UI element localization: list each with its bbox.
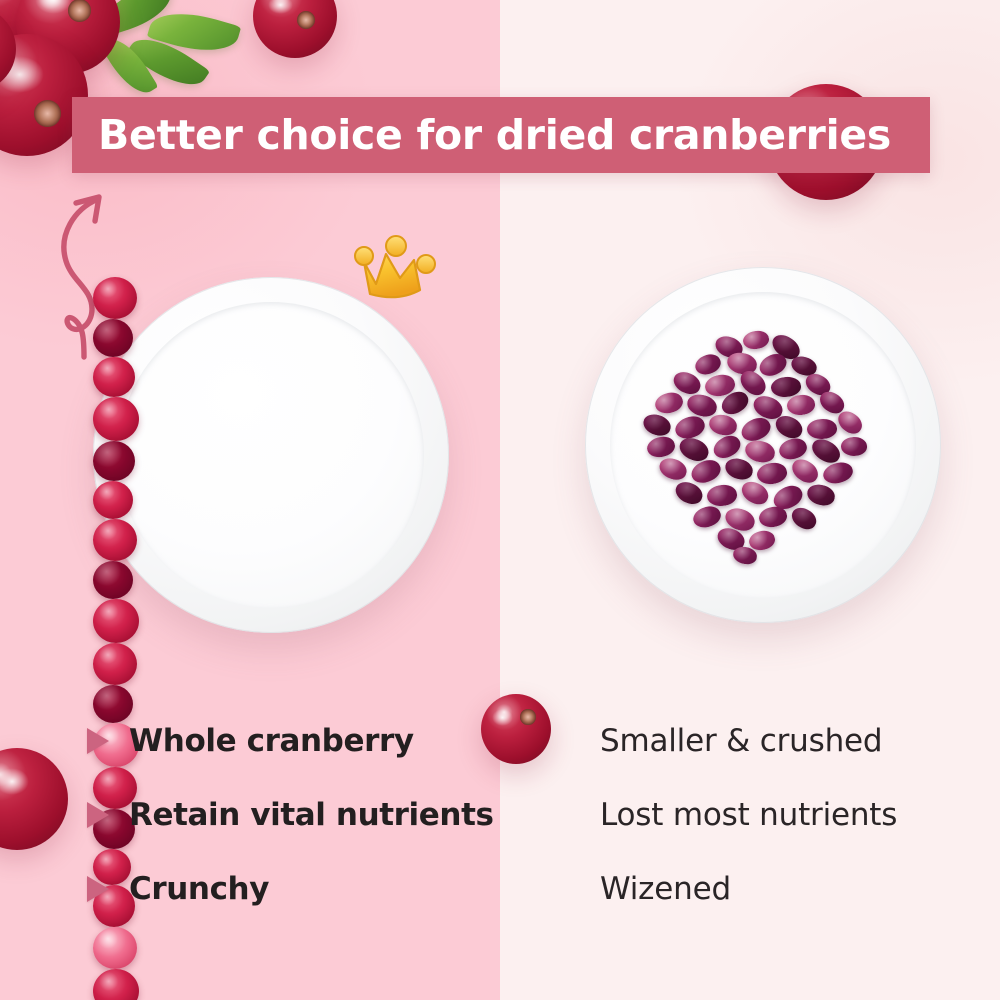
pro-feature-2: Retain vital nutrients bbox=[0, 780, 500, 850]
crown-icon bbox=[346, 228, 450, 312]
con-feature-label: Lost most nutrients bbox=[600, 797, 897, 833]
con-feature-label: Wizened bbox=[600, 871, 731, 907]
triangle-bullet-icon bbox=[87, 876, 109, 902]
headline-banner: Better choice for dried cranberries bbox=[72, 97, 930, 173]
triangle-bullet-icon bbox=[87, 802, 109, 828]
pro-feature-label: Crunchy bbox=[129, 871, 269, 907]
feature-comparison-list: Whole cranberry Smaller & crushed Retain… bbox=[0, 706, 1000, 916]
con-feature-1: Smaller & crushed bbox=[500, 706, 1000, 776]
con-feature-2: Lost most nutrients bbox=[500, 780, 1000, 850]
pro-feature-3: Crunchy bbox=[0, 854, 500, 924]
comparison-row: Whole cranberry Smaller & crushed bbox=[0, 706, 1000, 776]
comparison-row: Retain vital nutrients Lost most nutrien… bbox=[0, 780, 1000, 850]
right-product-plate bbox=[585, 267, 941, 623]
pro-feature-label: Whole cranberry bbox=[129, 723, 414, 759]
page-title: Better choice for dried cranberries bbox=[72, 111, 891, 159]
left-product-plate bbox=[93, 277, 449, 633]
infographic-canvas: Better choice for dried cranberries bbox=[0, 0, 1000, 1000]
comparison-row: Crunchy Wizened bbox=[0, 854, 1000, 924]
pro-feature-1: Whole cranberry bbox=[0, 706, 500, 776]
triangle-bullet-icon bbox=[87, 728, 109, 754]
con-feature-3: Wizened bbox=[500, 854, 1000, 924]
con-feature-label: Smaller & crushed bbox=[600, 723, 882, 759]
pro-feature-label: Retain vital nutrients bbox=[129, 797, 494, 833]
